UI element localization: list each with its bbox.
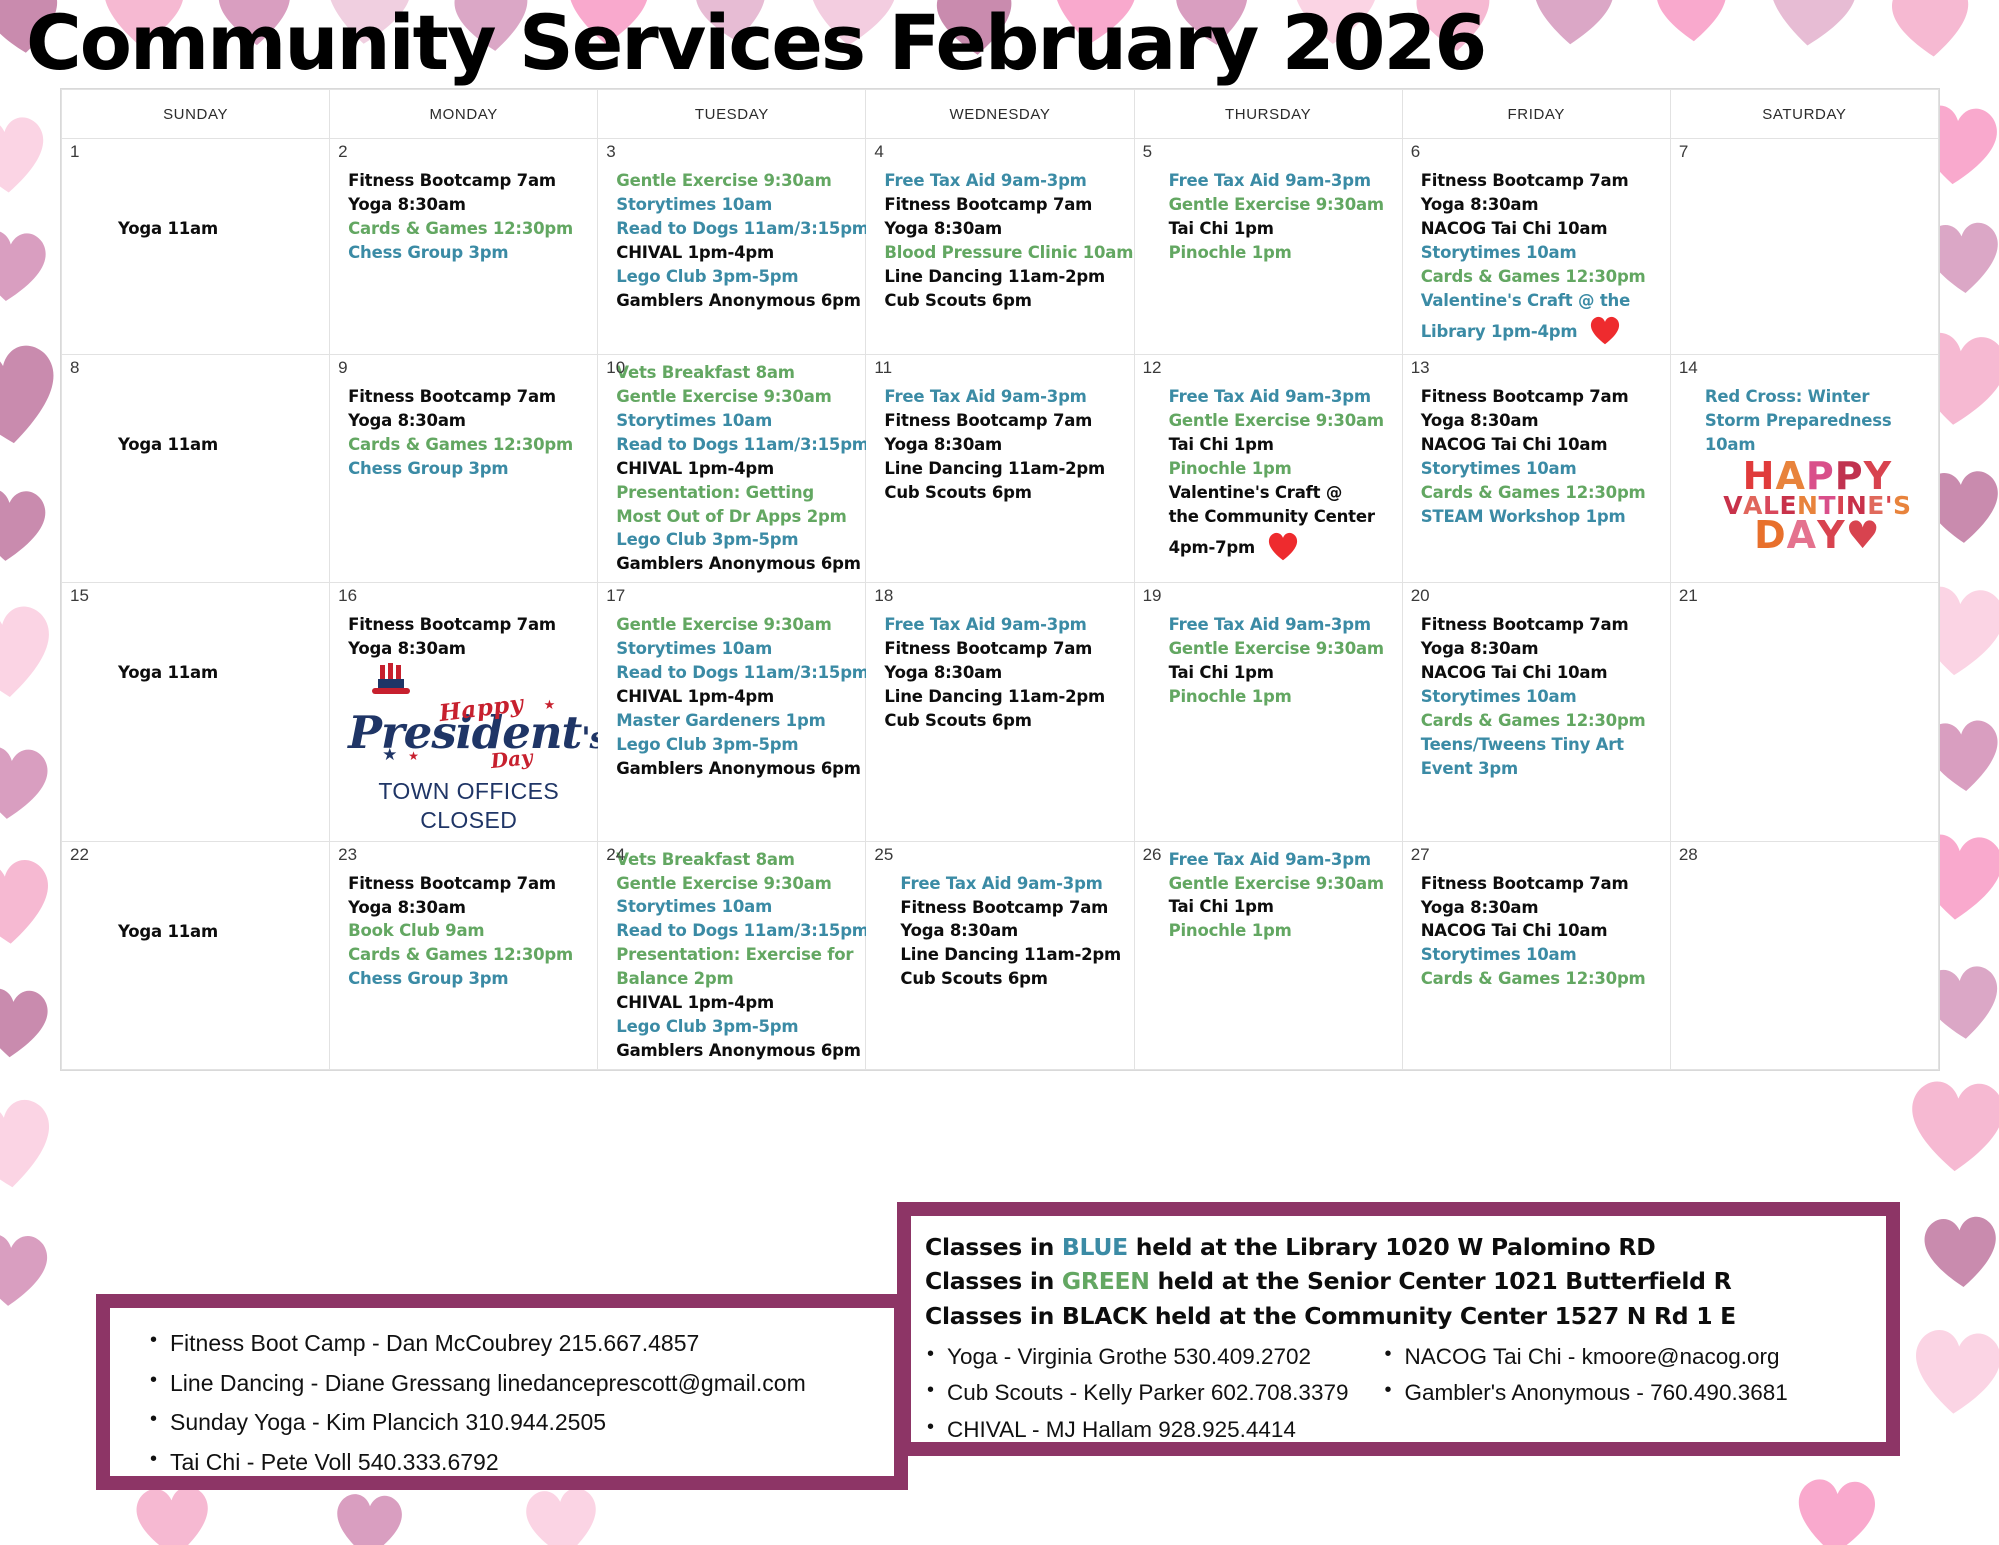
event-item[interactable]: Yoga 8:30am	[348, 896, 589, 920]
weekday-header-tuesday: TUESDAY	[598, 90, 866, 139]
day-number: 11	[874, 359, 892, 376]
weekday-header-sunday: SUNDAY	[62, 90, 330, 139]
contact-box: Fitness Boot Camp - Dan McCoubrey 215.66…	[96, 1294, 908, 1490]
event-item[interactable]: Line Dancing 11am-2pm	[884, 265, 1125, 289]
event-label: Yoga 11am	[118, 663, 218, 682]
legend-line-green: Classes in GREEN held at the Senior Cent…	[925, 1264, 1886, 1298]
heart-icon	[0, 218, 56, 311]
event-item[interactable]: Library 1pm-4pm	[1421, 313, 1662, 346]
event-item[interactable]: Storytimes 10am	[616, 193, 857, 217]
calendar-day-cell-5[interactable]: 5Free Tax Aid 9am-3pmGentle Exercise 9:3…	[1134, 139, 1402, 355]
star-icon: ★	[382, 745, 397, 765]
day-events	[1671, 583, 1938, 619]
heart-icon	[328, 1484, 410, 1545]
event-item[interactable]: Cards & Games 12:30pm	[348, 433, 589, 457]
day-events: Yoga 11am	[62, 583, 329, 691]
event-item[interactable]: Master Gardeners 1pm	[616, 709, 857, 733]
event-label: Free Tax Aid 9am-3pm	[1169, 850, 1371, 869]
event-item[interactable]: Cub Scouts 6pm	[884, 289, 1125, 313]
day-events: Fitness Bootcamp 7amYoga 8:30amCards & G…	[330, 139, 597, 271]
event-item[interactable]: Fitness Bootcamp 7am	[900, 896, 1125, 920]
event-item[interactable]: Yoga 8:30am	[1421, 896, 1662, 920]
event-item[interactable]: CHIVAL 1pm-4pm	[616, 991, 857, 1015]
event-label: the Community Center	[1169, 507, 1375, 526]
contact-item: Sunday Yoga - Kim Plancich 310.944.2505	[166, 1403, 894, 1443]
event-item[interactable]: Chess Group 3pm	[348, 241, 589, 265]
event-label: Yoga 8:30am	[884, 219, 1002, 238]
event-item[interactable]: Gentle Exercise 9:30am	[616, 872, 857, 896]
day-number: 18	[874, 587, 893, 604]
day-number: 12	[1143, 359, 1162, 376]
event-label: Fitness Bootcamp 7am	[884, 411, 1092, 430]
event-item[interactable]: Storytimes 10am	[1421, 241, 1662, 265]
calendar-day-cell-20[interactable]: 20Fitness Bootcamp 7amYoga 8:30amNACOG T…	[1402, 583, 1670, 841]
event-item[interactable]: Gentle Exercise 9:30am	[1169, 193, 1394, 217]
event-item[interactable]: Vets Breakfast 8am	[616, 361, 857, 385]
day-events: Vets Breakfast 8amGentle Exercise 9:30am…	[598, 842, 865, 1069]
event-item[interactable]: Gentle Exercise 9:30am	[1169, 637, 1394, 661]
event-label: CHIVAL 1pm-4pm	[616, 243, 774, 262]
event-item[interactable]: Pinochle 1pm	[1169, 457, 1394, 481]
day-number: 13	[1411, 359, 1430, 376]
event-item[interactable]: Storytimes 10am	[616, 637, 857, 661]
event-label: Tai Chi 1pm	[1169, 663, 1274, 682]
day-number: 14	[1679, 359, 1698, 376]
event-item[interactable]: NACOG Tai Chi 10am	[1421, 661, 1662, 685]
event-item[interactable]: Gentle Exercise 9:30am	[616, 169, 857, 193]
event-item[interactable]: Fitness Bootcamp 7am	[1421, 169, 1662, 193]
event-item[interactable]: Fitness Bootcamp 7am	[1421, 385, 1662, 409]
event-label: Line Dancing 11am-2pm	[884, 459, 1105, 478]
event-item[interactable]: Fitness Bootcamp 7am	[348, 613, 589, 637]
event-item[interactable]: Line Dancing 11am-2pm	[900, 943, 1125, 967]
valentines-letter: Y	[1864, 459, 1893, 495]
event-item[interactable]: Vets Breakfast 8am	[616, 848, 857, 872]
weekday-header-monday: MONDAY	[330, 90, 598, 139]
event-label: Presentation: Exercise for	[616, 945, 853, 964]
event-item[interactable]: Yoga 8:30am	[1421, 193, 1662, 217]
event-item[interactable]: Fitness Bootcamp 7am	[348, 169, 589, 193]
event-label: Read to Dogs 11am/3:15pm	[616, 663, 869, 682]
event-label: Fitness Bootcamp 7am	[1421, 387, 1629, 406]
heart-icon	[1882, 0, 1980, 67]
event-item[interactable]: CHIVAL 1pm-4pm	[616, 457, 857, 481]
event-item[interactable]: Free Tax Aid 9am-3pm	[884, 613, 1125, 637]
calendar-day-cell-27[interactable]: 27Fitness Bootcamp 7amYoga 8:30amNACOG T…	[1402, 841, 1670, 1069]
event-label: Valentine's Craft @ the	[1421, 291, 1630, 310]
event-item[interactable]: Lego Club 3pm-5pm	[616, 1015, 857, 1039]
calendar-day-cell-26[interactable]: 26Free Tax Aid 9am-3pmGentle Exercise 9:…	[1134, 841, 1402, 1069]
legend-line-black: Classes in BLACK held at the Community C…	[925, 1299, 1886, 1333]
day-number: 9	[338, 359, 347, 376]
weekday-header-wednesday: WEDNESDAY	[866, 90, 1134, 139]
event-item[interactable]: Free Tax Aid 9am-3pm	[1169, 385, 1394, 409]
event-label: Storytimes 10am	[1421, 945, 1577, 964]
heart-icon	[1787, 1467, 1885, 1545]
event-item[interactable]: Free Tax Aid 9am-3pm	[1169, 848, 1394, 872]
event-item[interactable]: Pinochle 1pm	[1169, 241, 1394, 265]
event-item[interactable]: Yoga 11am	[118, 661, 321, 685]
day-events: Free Tax Aid 9am-3pmGentle Exercise 9:30…	[1135, 355, 1402, 568]
heart-icon	[0, 1223, 56, 1315]
calendar-day-cell-14[interactable]: 14Red Cross: WinterStorm Preparedness10a…	[1670, 355, 1938, 583]
event-item[interactable]: Read to Dogs 11am/3:15pm	[616, 919, 857, 943]
event-item[interactable]: Yoga 8:30am	[900, 919, 1125, 943]
heart-icon	[1587, 313, 1623, 346]
heart-icon	[0, 477, 55, 571]
event-item[interactable]: Free Tax Aid 9am-3pm	[884, 385, 1125, 409]
event-label: Lego Club 3pm-5pm	[616, 530, 798, 549]
town-offices-line2: CLOSED	[348, 806, 589, 835]
calendar-day-cell-17[interactable]: 17Gentle Exercise 9:30amStorytimes 10amR…	[598, 583, 866, 841]
event-item[interactable]: Yoga 8:30am	[884, 217, 1125, 241]
day-number: 22	[70, 846, 89, 863]
valentines-letter: P	[1835, 459, 1864, 495]
day-number: 26	[1143, 846, 1162, 863]
event-item[interactable]: NACOG Tai Chi 10am	[1421, 919, 1662, 943]
event-label: Gentle Exercise 9:30am	[616, 874, 831, 893]
event-label: Cub Scouts 6pm	[884, 291, 1031, 310]
event-label: 4pm-7pm	[1169, 538, 1255, 557]
calendar-day-cell-18[interactable]: 18Free Tax Aid 9am-3pmFitness Bootcamp 7…	[866, 583, 1134, 841]
event-item[interactable]: Lego Club 3pm-5pm	[616, 528, 857, 552]
event-label: Cards & Games 12:30pm	[348, 945, 573, 964]
contact-lines: Fitness Boot Camp - Dan McCoubrey 215.66…	[110, 1308, 894, 1482]
event-item[interactable]: Yoga 8:30am	[884, 433, 1125, 457]
calendar-header-row: SUNDAYMONDAYTUESDAYWEDNESDAYTHURSDAYFRID…	[62, 90, 1939, 139]
legend-lines: Classes in BLUE held at the Library 1020…	[911, 1216, 1886, 1333]
event-item[interactable]: the Community Center	[1169, 505, 1394, 529]
event-label: Yoga 8:30am	[1421, 411, 1539, 430]
calendar-day-cell-6[interactable]: 6Fitness Bootcamp 7amYoga 8:30amNACOG Ta…	[1402, 139, 1670, 355]
star-icon: ★	[408, 749, 419, 763]
event-label: Free Tax Aid 9am-3pm	[1169, 171, 1371, 190]
calendar-day-cell-1[interactable]: 1Yoga 11am	[62, 139, 330, 355]
event-item[interactable]: Tai Chi 1pm	[1169, 661, 1394, 685]
event-label: Teens/Tweens Tiny Art	[1421, 735, 1624, 754]
event-item[interactable]: Valentine's Craft @	[1169, 481, 1394, 505]
day-events: Gentle Exercise 9:30amStorytimes 10amRea…	[598, 583, 865, 786]
event-label: Line Dancing 11am-2pm	[884, 267, 1105, 286]
legend-blue-word: BLUE	[1062, 1233, 1128, 1261]
event-item[interactable]: STEAM Workshop 1pm	[1421, 505, 1662, 529]
calendar-day-cell-19[interactable]: 19Free Tax Aid 9am-3pmGentle Exercise 9:…	[1134, 583, 1402, 841]
calendar-day-cell-10[interactable]: 10Vets Breakfast 8amGentle Exercise 9:30…	[598, 355, 866, 583]
event-item[interactable]: Gentle Exercise 9:30am	[1169, 409, 1394, 433]
event-label: Cub Scouts 6pm	[884, 711, 1031, 730]
event-label: Lego Club 3pm-5pm	[616, 1017, 798, 1036]
event-item[interactable]: Gamblers Anonymous 6pm	[616, 552, 857, 576]
event-item[interactable]: Yoga 11am	[118, 920, 321, 944]
event-item[interactable]: Fitness Bootcamp 7am	[884, 637, 1125, 661]
event-label: Master Gardeners 1pm	[616, 711, 825, 730]
event-label: Free Tax Aid 9am-3pm	[1169, 387, 1371, 406]
calendar-day-cell-16[interactable]: 16Fitness Bootcamp 7amYoga 8:30amHappyPr…	[330, 583, 598, 841]
heart-icon	[1915, 1205, 1999, 1297]
day-events: Fitness Bootcamp 7amYoga 8:30amBook Club…	[330, 842, 597, 998]
event-label: Storytimes 10am	[1421, 459, 1577, 478]
event-label: Free Tax Aid 9am-3pm	[900, 874, 1102, 893]
event-label: Gentle Exercise 9:30am	[616, 171, 831, 190]
day-number: 6	[1411, 143, 1420, 160]
day-events: Red Cross: WinterStorm Preparedness10amH…	[1671, 355, 1938, 560]
event-item[interactable]: Presentation: Exercise for	[616, 943, 857, 967]
event-item[interactable]: Yoga 8:30am	[1421, 409, 1662, 433]
event-label: Balance 2pm	[616, 969, 733, 988]
event-item[interactable]: Fitness Bootcamp 7am	[348, 872, 589, 896]
event-item[interactable]: Yoga 8:30am	[884, 661, 1125, 685]
event-label: Storytimes 10am	[616, 639, 772, 658]
valentines-letter: V	[1723, 494, 1743, 518]
day-events: Fitness Bootcamp 7amYoga 8:30amNACOG Tai…	[1403, 139, 1670, 352]
valentines-letter: A	[1775, 459, 1805, 495]
event-item[interactable]: Lego Club 3pm-5pm	[616, 733, 857, 757]
legend-contact-item: Yoga - Virginia Grothe 530.409.2702	[943, 1339, 1348, 1375]
event-item[interactable]: Fitness Bootcamp 7am	[348, 385, 589, 409]
event-item[interactable]: Cards & Games 12:30pm	[1421, 967, 1662, 991]
calendar-day-cell-2[interactable]: 2Fitness Bootcamp 7amYoga 8:30amCards & …	[330, 139, 598, 355]
heart-icon	[0, 977, 57, 1067]
event-label: Fitness Bootcamp 7am	[1421, 874, 1629, 893]
event-item[interactable]: Fitness Bootcamp 7am	[1421, 613, 1662, 637]
event-label: Yoga 8:30am	[348, 411, 466, 430]
event-item[interactable]: Storytimes 10am	[1421, 685, 1662, 709]
event-item[interactable]: Storytimes 10am	[1421, 943, 1662, 967]
event-label: Yoga 8:30am	[1421, 898, 1539, 917]
calendar-day-cell-9[interactable]: 9Fitness Bootcamp 7amYoga 8:30amCards & …	[330, 355, 598, 583]
calendar-day-cell-4[interactable]: 4Free Tax Aid 9am-3pmFitness Bootcamp 7a…	[866, 139, 1134, 355]
event-item[interactable]: Yoga 11am	[118, 433, 321, 457]
event-item[interactable]: Yoga 11am	[118, 217, 321, 241]
event-item[interactable]: Tai Chi 1pm	[1169, 217, 1394, 241]
calendar-week-row: 22Yoga 11am23Fitness Bootcamp 7amYoga 8:…	[62, 841, 1939, 1069]
calendar-day-cell-25[interactable]: 25Free Tax Aid 9am-3pmFitness Bootcamp 7…	[866, 841, 1134, 1069]
legend-contact-item: Cub Scouts - Kelly Parker 602.708.3379	[943, 1375, 1348, 1411]
day-events: Free Tax Aid 9am-3pmFitness Bootcamp 7am…	[866, 842, 1133, 998]
event-item[interactable]: Blood Pressure Clinic 10am	[884, 241, 1125, 265]
event-item[interactable]: Cards & Games 12:30pm	[1421, 265, 1662, 289]
day-events: Fitness Bootcamp 7amYoga 8:30amNACOG Tai…	[1403, 583, 1670, 786]
event-item[interactable]: Cards & Games 12:30pm	[348, 943, 589, 967]
event-item[interactable]: Gentle Exercise 9:30am	[616, 385, 857, 409]
event-item[interactable]: Line Dancing 11am-2pm	[884, 685, 1125, 709]
event-item[interactable]: Lego Club 3pm-5pm	[616, 265, 857, 289]
day-events: Fitness Bootcamp 7amYoga 8:30amHappyPres…	[330, 583, 597, 840]
event-item[interactable]: Yoga 8:30am	[348, 409, 589, 433]
event-item[interactable]: NACOG Tai Chi 10am	[1421, 217, 1662, 241]
valentines-letter: Y	[1817, 518, 1846, 554]
event-item[interactable]: Read to Dogs 11am/3:15pm	[616, 661, 857, 685]
event-item[interactable]: Chess Group 3pm	[348, 457, 589, 481]
calendar-day-cell-13[interactable]: 13Fitness Bootcamp 7amYoga 8:30amNACOG T…	[1402, 355, 1670, 583]
calendar-day-cell-8[interactable]: 8Yoga 11am	[62, 355, 330, 583]
event-item[interactable]: Free Tax Aid 9am-3pm	[1169, 169, 1394, 193]
day-events: Gentle Exercise 9:30amStorytimes 10amRea…	[598, 139, 865, 319]
event-label: Fitness Bootcamp 7am	[884, 195, 1092, 214]
event-label: Fitness Bootcamp 7am	[1421, 615, 1629, 634]
event-label: Line Dancing 11am-2pm	[884, 687, 1105, 706]
event-item[interactable]: Storytimes 10am	[1421, 457, 1662, 481]
event-item[interactable]: Cub Scouts 6pm	[884, 481, 1125, 505]
event-item[interactable]: Teens/Tweens Tiny Art	[1421, 733, 1662, 757]
day-events: Yoga 11am	[62, 139, 329, 247]
valentines-letter: ♥	[1846, 518, 1881, 554]
day-number: 4	[874, 143, 883, 160]
valentines-letter: H	[1743, 459, 1776, 495]
day-number: 1	[70, 143, 79, 160]
happy-valentines-day-graphic: HAPPYVALENTINE'SDAY♥	[1705, 459, 1930, 554]
day-events: Fitness Bootcamp 7amYoga 8:30amNACOG Tai…	[1403, 355, 1670, 535]
event-label: STEAM Workshop 1pm	[1421, 507, 1626, 526]
event-item[interactable]: Free Tax Aid 9am-3pm	[900, 872, 1125, 896]
event-label: Storytimes 10am	[616, 195, 772, 214]
calendar-day-cell-15[interactable]: 15Yoga 11am	[62, 583, 330, 841]
event-item[interactable]: Gamblers Anonymous 6pm	[616, 757, 857, 781]
event-item[interactable]: Presentation: Getting	[616, 481, 857, 505]
calendar-day-cell-24[interactable]: 24Vets Breakfast 8amGentle Exercise 9:30…	[598, 841, 866, 1069]
event-item[interactable]: Cards & Games 12:30pm	[1421, 481, 1662, 505]
page-title: Community Services February 2026	[26, 4, 1485, 82]
event-item[interactable]: Pinochle 1pm	[1169, 919, 1394, 943]
event-item[interactable]: NACOG Tai Chi 10am	[1421, 433, 1662, 457]
event-label: Fitness Bootcamp 7am	[348, 387, 556, 406]
event-item[interactable]: Most Out of Dr Apps 2pm	[616, 505, 857, 529]
day-events: Free Tax Aid 9am-3pmFitness Bootcamp 7am…	[866, 355, 1133, 511]
event-label: Pinochle 1pm	[1169, 687, 1292, 706]
calendar-day-cell-21[interactable]: 21	[1670, 583, 1938, 841]
legend-green-pre: Classes in	[925, 1267, 1062, 1295]
event-label: Tai Chi 1pm	[1169, 897, 1274, 916]
event-item[interactable]: Read to Dogs 11am/3:15pm	[616, 433, 857, 457]
legend-contact-columns: Yoga - Virginia Grothe 530.409.2702Cub S…	[911, 1333, 1886, 1448]
valentines-letter: D	[1754, 518, 1787, 554]
event-label: Cards & Games 12:30pm	[1421, 969, 1646, 988]
event-item[interactable]: Storytimes 10am	[616, 409, 857, 433]
event-item[interactable]: Storm Preparedness	[1705, 409, 1930, 433]
weekday-header-saturday: SATURDAY	[1670, 90, 1938, 139]
event-item[interactable]: Fitness Bootcamp 7am	[884, 193, 1125, 217]
calendar-day-cell-3[interactable]: 3Gentle Exercise 9:30amStorytimes 10amRe…	[598, 139, 866, 355]
event-item[interactable]: Tai Chi 1pm	[1169, 895, 1394, 919]
valentines-letter: '	[1885, 494, 1893, 518]
event-label: Library 1pm-4pm	[1421, 322, 1578, 341]
calendar-day-cell-11[interactable]: 11Free Tax Aid 9am-3pmFitness Bootcamp 7…	[866, 355, 1134, 583]
event-label: Chess Group 3pm	[348, 969, 508, 988]
day-events: Fitness Bootcamp 7amYoga 8:30amNACOG Tai…	[1403, 842, 1670, 998]
event-label: Fitness Bootcamp 7am	[348, 874, 556, 893]
event-label: Cub Scouts 6pm	[900, 969, 1047, 988]
event-item[interactable]: Cards & Games 12:30pm	[1421, 709, 1662, 733]
event-item[interactable]: Pinochle 1pm	[1169, 685, 1394, 709]
day-number: 19	[1143, 587, 1162, 604]
event-item[interactable]: Cub Scouts 6pm	[900, 967, 1125, 991]
heart-icon	[0, 591, 65, 712]
day-number: 21	[1679, 587, 1698, 604]
event-item[interactable]: 4pm-7pm	[1169, 529, 1394, 562]
heart-icon	[1265, 529, 1301, 562]
event-item[interactable]: Book Club 9am	[348, 919, 589, 943]
weekday-header-friday: FRIDAY	[1402, 90, 1670, 139]
event-item[interactable]: Read to Dogs 11am/3:15pm	[616, 217, 857, 241]
event-item[interactable]: Line Dancing 11am-2pm	[884, 457, 1125, 481]
day-number: 16	[338, 587, 357, 604]
event-item[interactable]: Yoga 8:30am	[1421, 637, 1662, 661]
contact-item: Fitness Boot Camp - Dan McCoubrey 215.66…	[166, 1324, 894, 1364]
event-item[interactable]: Yoga 8:30am	[348, 193, 589, 217]
event-label: Yoga 8:30am	[348, 639, 466, 658]
event-label: Yoga 8:30am	[900, 921, 1018, 940]
event-item[interactable]: Tai Chi 1pm	[1169, 433, 1394, 457]
event-label: Fitness Bootcamp 7am	[1421, 171, 1629, 190]
event-item[interactable]: Event 3pm	[1421, 757, 1662, 781]
heart-icon	[1755, 0, 1869, 59]
heart-icon	[1648, 0, 1736, 50]
event-label: Yoga 8:30am	[348, 195, 466, 214]
event-label: Storytimes 10am	[616, 897, 772, 916]
event-label: Gamblers Anonymous 6pm	[616, 554, 861, 573]
day-number: 23	[338, 846, 357, 863]
event-item[interactable]: Free Tax Aid 9am-3pm	[884, 169, 1125, 193]
event-item[interactable]: Gamblers Anonymous 6pm	[616, 289, 857, 313]
event-label: NACOG Tai Chi 10am	[1421, 435, 1608, 454]
event-item[interactable]: Balance 2pm	[616, 967, 857, 991]
calendar-day-cell-28[interactable]: 28	[1670, 841, 1938, 1069]
event-item[interactable]: Gamblers Anonymous 6pm	[616, 1039, 857, 1063]
legend-green-word: GREEN	[1062, 1267, 1150, 1295]
event-label: Free Tax Aid 9am-3pm	[884, 615, 1086, 634]
calendar-grid: SUNDAYMONDAYTUESDAYWEDNESDAYTHURSDAYFRID…	[60, 88, 1940, 1071]
event-item[interactable]: Gentle Exercise 9:30am	[1169, 872, 1394, 896]
event-label: Chess Group 3pm	[348, 243, 508, 262]
event-item[interactable]: Free Tax Aid 9am-3pm	[1169, 613, 1394, 637]
event-item[interactable]: CHIVAL 1pm-4pm	[616, 241, 857, 265]
event-item[interactable]: Red Cross: Winter	[1705, 385, 1930, 409]
day-number: 2	[338, 143, 347, 160]
heart-icon	[0, 105, 55, 203]
calendar-day-cell-12[interactable]: 12Free Tax Aid 9am-3pmGentle Exercise 9:…	[1134, 355, 1402, 583]
calendar-day-cell-23[interactable]: 23Fitness Bootcamp 7amYoga 8:30amBook Cl…	[330, 841, 598, 1069]
event-item[interactable]: Gentle Exercise 9:30am	[616, 613, 857, 637]
event-label: Gentle Exercise 9:30am	[616, 615, 831, 634]
event-label: Event 3pm	[1421, 759, 1518, 778]
event-label: Yoga 8:30am	[884, 663, 1002, 682]
event-item[interactable]: Fitness Bootcamp 7am	[1421, 872, 1662, 896]
event-item[interactable]: CHIVAL 1pm-4pm	[616, 685, 857, 709]
valentines-art-line1: HAPPY	[1705, 459, 1930, 495]
day-number: 10	[606, 359, 625, 376]
event-item[interactable]: Cards & Games 12:30pm	[348, 217, 589, 241]
event-item[interactable]: Chess Group 3pm	[348, 967, 589, 991]
event-label: Yoga 11am	[118, 435, 218, 454]
event-label: Yoga 8:30am	[884, 435, 1002, 454]
event-label: Pinochle 1pm	[1169, 243, 1292, 262]
event-item[interactable]: Valentine's Craft @ the	[1421, 289, 1662, 313]
day-number: 8	[70, 359, 79, 376]
event-item[interactable]: Storytimes 10am	[616, 895, 857, 919]
uncle-sam-hat-icon	[348, 669, 589, 695]
calendar-day-cell-22[interactable]: 22Yoga 11am	[62, 841, 330, 1069]
event-item[interactable]: Cub Scouts 6pm	[884, 709, 1125, 733]
calendar-day-cell-7[interactable]: 7	[1670, 139, 1938, 355]
event-label: Storm Preparedness	[1705, 411, 1892, 430]
legend-contacts-left: Yoga - Virginia Grothe 530.409.2702Cub S…	[921, 1339, 1348, 1448]
event-label: Vets Breakfast 8am	[616, 850, 795, 869]
event-label: Yoga 8:30am	[1421, 639, 1539, 658]
event-item[interactable]: Fitness Bootcamp 7am	[884, 409, 1125, 433]
event-item[interactable]: Yoga 8:30am	[348, 637, 589, 661]
valentines-letter: S	[1893, 494, 1912, 518]
heart-icon	[0, 846, 62, 957]
